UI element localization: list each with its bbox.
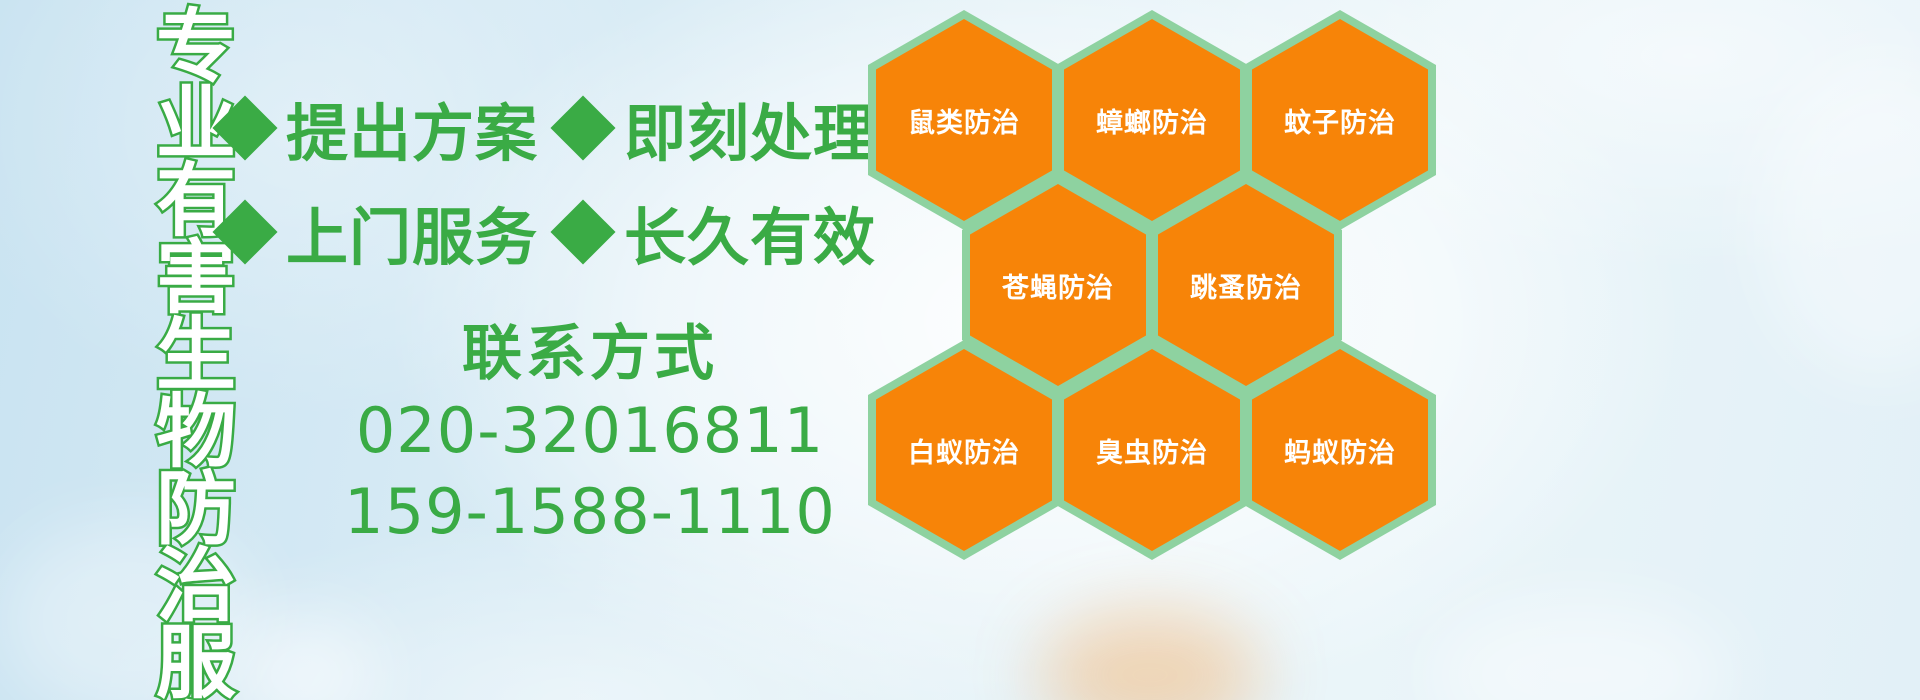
contact-phone-mobile[interactable]: 159-1588-1110 [300, 472, 880, 553]
feature-item: 长久有效 [560, 187, 876, 277]
hex-inner: 白蚁防治 [876, 349, 1052, 551]
hex-inner: 鼠类防治 [876, 19, 1052, 221]
contact-heading: 联系方式 [300, 316, 880, 391]
hex-label: 苍蝇防治 [1002, 266, 1114, 305]
diamond-icon [212, 199, 277, 264]
hex-inner: 臭虫防治 [1064, 349, 1240, 551]
hex-label: 臭虫防治 [1096, 431, 1208, 470]
feature-row: 提出方案 即刻处理 [222, 76, 882, 180]
hex-label: 鼠类防治 [908, 101, 1020, 140]
hex-inner: 蟑螂防治 [1064, 19, 1240, 221]
hex-label: 蚂蚁防治 [1284, 431, 1396, 470]
hex-label: 跳蚤防治 [1190, 266, 1302, 305]
diamond-icon [212, 95, 277, 160]
hex-inner: 跳蚤防治 [1158, 184, 1334, 386]
hex-label: 白蚁防治 [908, 431, 1020, 470]
vertical-headline: 专业有害生物防治服务 [104, 4, 228, 584]
hex-label: 蟑螂防治 [1096, 101, 1208, 140]
feature-label: 即刻处理 [624, 83, 876, 173]
hex-inner: 蚊子防治 [1252, 19, 1428, 221]
hex-label: 蚊子防治 [1284, 101, 1396, 140]
feature-label: 提出方案 [286, 83, 538, 173]
feature-item: 提出方案 [222, 83, 538, 173]
feature-row: 上门服务 长久有效 [222, 180, 882, 284]
service-honeycomb: 鼠类防治 蟑螂防治 蚊子防治 苍蝇防治 跳蚤防治 白蚁防治 [862, 0, 1462, 580]
feature-list: 提出方案 即刻处理 上门服务 长久有效 [222, 76, 882, 284]
hex-inner: 蚂蚁防治 [1252, 349, 1428, 551]
hex-inner: 苍蝇防治 [970, 184, 1146, 386]
contact-block: 联系方式 020-32016811 159-1588-1110 [300, 316, 880, 552]
feature-label: 长久有效 [624, 187, 876, 277]
feature-item: 即刻处理 [560, 83, 876, 173]
feature-item: 上门服务 [222, 187, 538, 277]
diamond-icon [550, 95, 615, 160]
contact-phone-landline[interactable]: 020-32016811 [300, 391, 880, 472]
diamond-icon [550, 199, 615, 264]
pest-control-banner: 专业有害生物防治服务 提出方案 即刻处理 上门服务 长久有效 联系方式 0 [0, 0, 1920, 700]
feature-label: 上门服务 [286, 187, 538, 277]
